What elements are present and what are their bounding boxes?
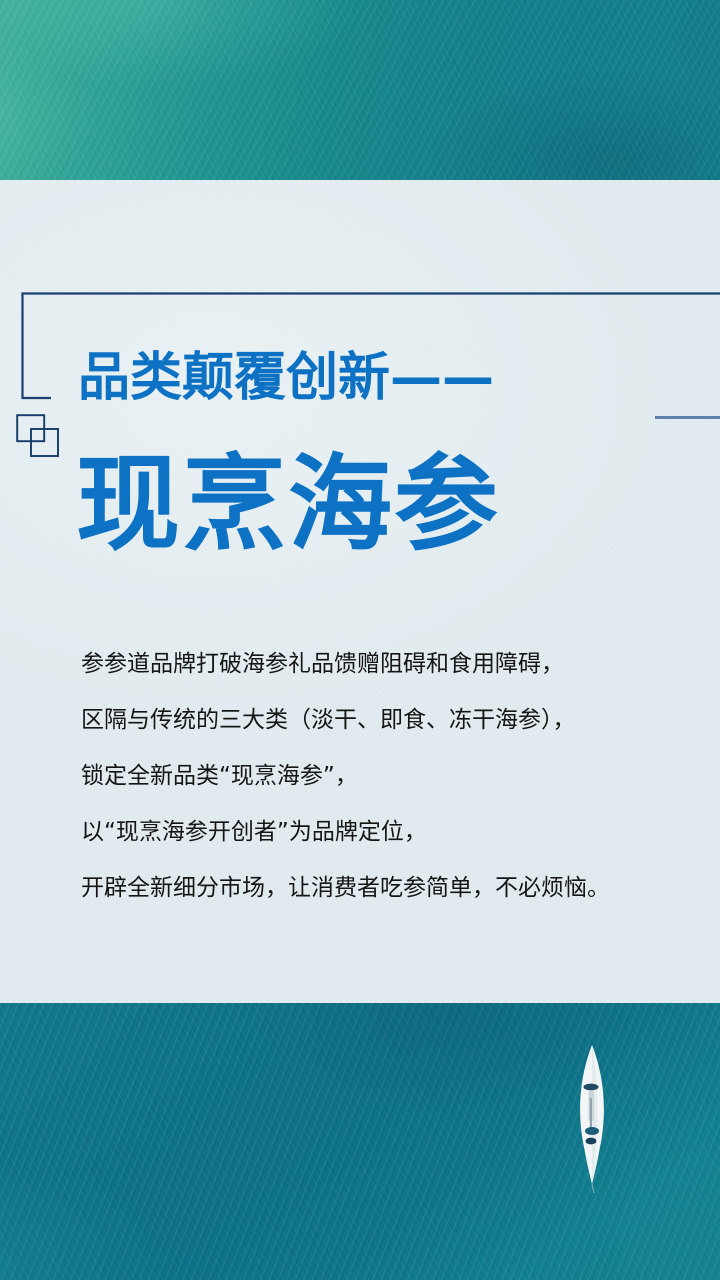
page-headline: 品类颠覆创新——: [78, 352, 494, 404]
page-title: 现烹海参: [76, 450, 500, 559]
horizontal-rule-right-decor: [655, 416, 720, 419]
white-sailboat-aerial-icon: [566, 1043, 618, 1193]
body-line: 区隔与传统的三大类（淡干、即食、冻干海参），: [81, 692, 691, 748]
ocean-water-aerial-top-image: [0, 0, 720, 180]
poster-root: 品类颠覆创新—— 现烹海参 参参道品牌打破海参礼品馈赠阻碍和食用障碍， 区隔与传…: [0, 0, 720, 1280]
body-line: 参参道品牌打破海参礼品馈赠阻碍和食用障碍，: [81, 636, 691, 692]
body-line: 以“现烹海参开创者”为品牌定位，: [81, 804, 691, 860]
body-line: 锁定全新品类“现烹海参”，: [81, 748, 691, 804]
body-copy: 参参道品牌打破海参礼品馈赠阻碍和食用障碍， 区隔与传统的三大类（淡干、即食、冻干…: [81, 636, 691, 916]
body-line: 开辟全新细分市场，让消费者吃参简单，不必烦恼。: [81, 860, 691, 916]
overlapping-squares-icon: [16, 414, 66, 458]
